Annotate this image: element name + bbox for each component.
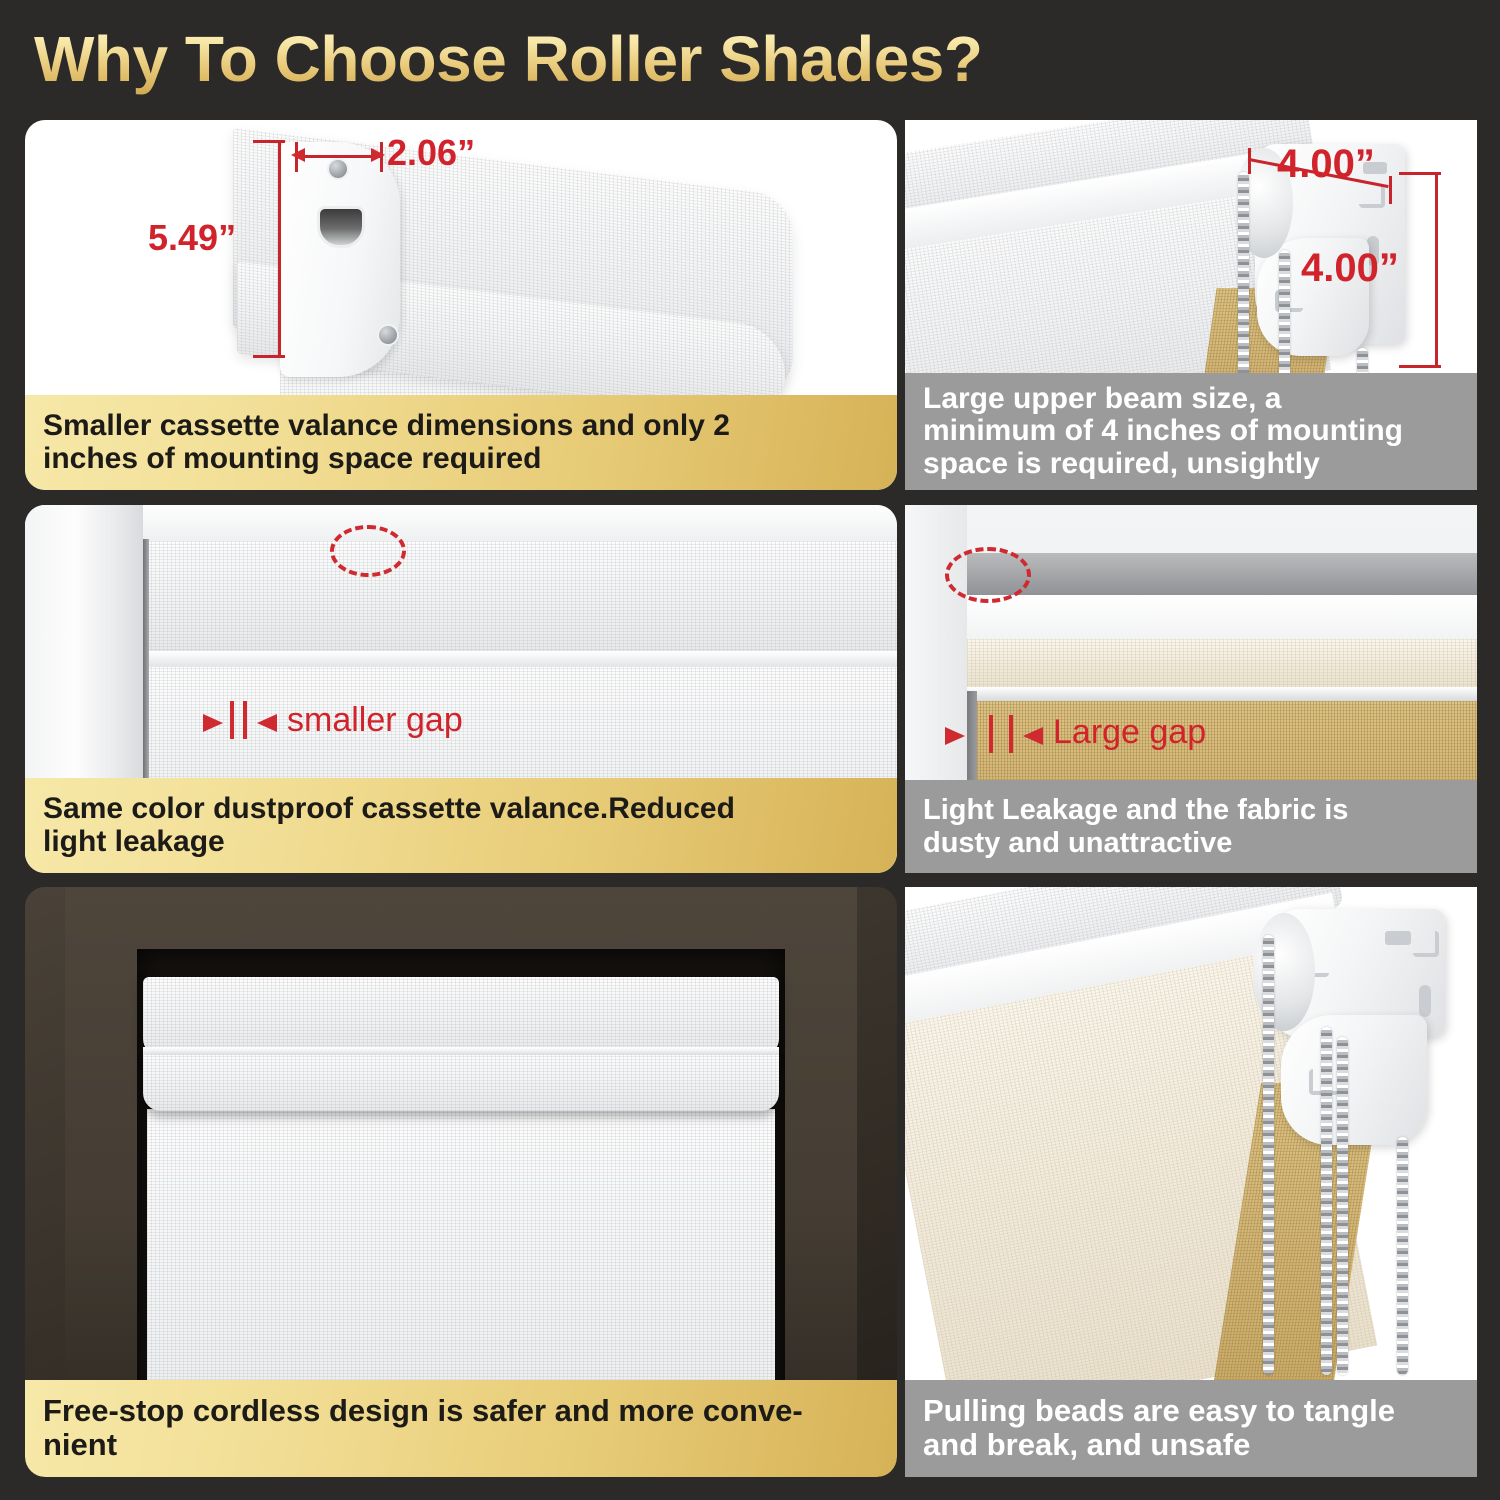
caption-pro-cassette-size: Smaller cassette valance dimensions and … <box>25 395 897 490</box>
caption-con-large-gap: Light Leakage and the fabric is dusty an… <box>905 780 1477 873</box>
dim-height-tick-bottom <box>253 355 285 358</box>
panel-pro-cassette-size: 2.06” 5.49” Smaller cassette valance dim… <box>25 120 897 490</box>
dim-height-tick-top <box>253 140 285 143</box>
caption-con-pulling-beads: Pulling beads are easy to tangle and bre… <box>905 1380 1477 1477</box>
caption-pro-smaller-gap: Same color dustproof cassette valance.Re… <box>25 778 897 873</box>
gap-label: smaller gap <box>287 701 463 740</box>
gap-arrow-right <box>257 714 277 732</box>
gap-arrow-right <box>1023 727 1043 745</box>
dim-height-line <box>278 140 281 358</box>
dim-h-tick-b <box>1399 365 1441 368</box>
gap-arrow-left <box>945 727 965 745</box>
dim-width-arrow-left <box>291 148 305 162</box>
caption-con-upper-beam: Large upper beam size, a minimum of 4 in… <box>905 373 1477 490</box>
caption-line-2: light leakage <box>43 825 881 859</box>
dim-h-tick-t <box>1399 172 1441 175</box>
bead-chain-4 <box>1397 1137 1408 1375</box>
gap-tick-1 <box>989 715 993 753</box>
dimension-label-width: 2.06” <box>387 132 475 174</box>
panel-con-upper-beam: 4.00” 4.00” Large upper beam size, a min… <box>905 120 1477 490</box>
bead-chain-3 <box>1337 1037 1348 1375</box>
caption-pro-cordless: Free-stop cordless design is safer and m… <box>25 1380 897 1477</box>
gap-label: Large gap <box>1053 713 1206 752</box>
cassette-valance <box>147 541 897 653</box>
cassette-valance <box>143 977 779 1055</box>
caption-line-2: dusty and unattractive <box>923 827 1461 859</box>
bead-chain-1 <box>1263 935 1274 1375</box>
gap-arrow-left <box>203 714 223 732</box>
caption-line-2: inches of mounting space required <box>43 442 881 476</box>
headrail-shine <box>963 687 1477 701</box>
screw-top-icon <box>327 158 349 180</box>
valance-rail <box>147 651 897 667</box>
highlight-circle <box>330 525 406 577</box>
dim-width-arrow-right <box>371 148 385 162</box>
caption-line-2: and break, and unsafe <box>923 1428 1461 1463</box>
gap-tick-1 <box>230 701 234 739</box>
caption-line-1: Large upper beam size, a <box>923 383 1461 415</box>
mounting-bracket-lower <box>1281 1015 1427 1145</box>
dimension-label-height: 5.49” <box>148 217 236 259</box>
headrail-top <box>963 553 1477 599</box>
caption-line-2: minimum of 4 inches of mounting <box>923 415 1461 447</box>
headrail-white <box>963 595 1477 645</box>
dimension-label-beam-width: 4.00” <box>1277 142 1375 187</box>
panel-con-large-gap: Large gap Light Leakage and the fabric i… <box>905 505 1477 873</box>
caption-line-1: Pulling beads are easy to tangle <box>923 1394 1461 1429</box>
gap-tick-2 <box>1009 715 1013 753</box>
headrail-cream <box>963 639 1477 691</box>
panel-con-pulling-beads: Pulling beads are easy to tangle and bre… <box>905 887 1477 1477</box>
caption-line-1: Light Leakage and the fabric is <box>923 794 1461 826</box>
dim-w-tick-r <box>1389 176 1392 204</box>
caption-line-1: Free-stop cordless design is safer and m… <box>43 1394 881 1429</box>
dimension-label-beam-height: 4.00” <box>1301 246 1399 291</box>
screw-mid-icon <box>377 324 399 346</box>
gap-tick-2 <box>243 701 247 739</box>
dim-h-line <box>1435 172 1438 368</box>
caption-line-2: nient <box>43 1428 881 1463</box>
caption-line-3: space is required, unsightly <box>923 448 1461 480</box>
caption-line-1: Smaller cassette valance dimensions and … <box>43 409 881 443</box>
panel-pro-cordless: Free-stop cordless design is safer and m… <box>25 887 897 1477</box>
panel-pro-smaller-gap: smaller gap Same color dustproof cassett… <box>25 505 897 873</box>
bead-chain-2 <box>1321 1027 1332 1375</box>
cassette-valance-lower <box>143 1055 779 1111</box>
highlight-circle <box>945 547 1031 603</box>
caption-line-1: Same color dustproof cassette valance.Re… <box>43 792 881 826</box>
window-frame-top <box>25 505 897 541</box>
comparison-grid: 2.06” 5.49” Smaller cassette valance dim… <box>0 0 1500 1500</box>
cassette-slot <box>317 206 365 248</box>
